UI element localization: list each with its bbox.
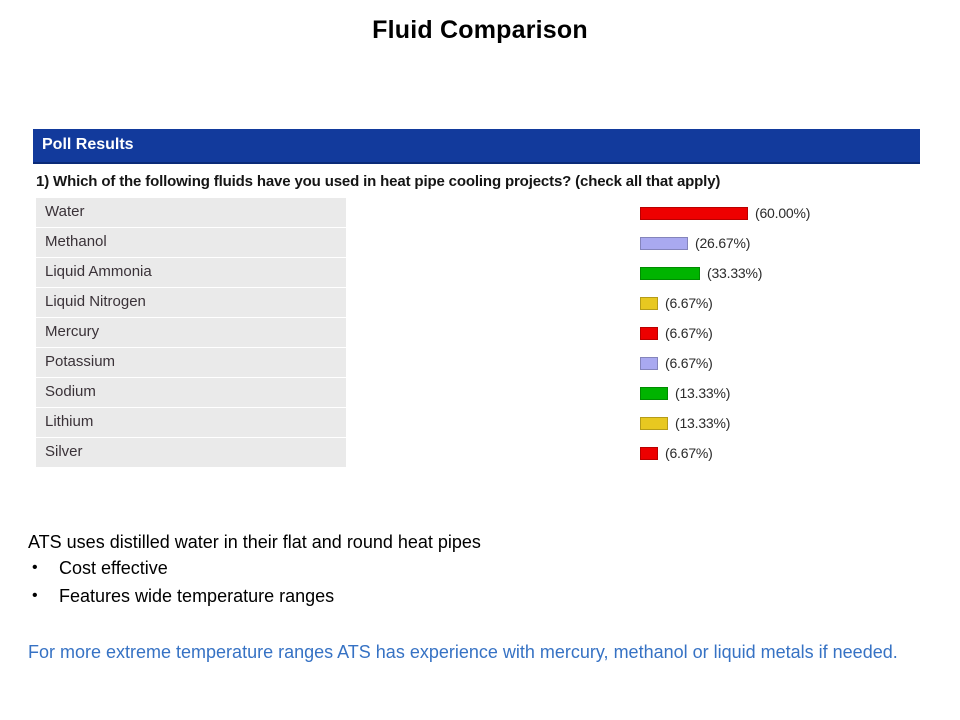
poll-row: Mercury(6.67%) (33, 318, 920, 348)
poll-row-bar (640, 387, 668, 400)
poll-row: Liquid Ammonia(33.33%) (33, 258, 920, 288)
poll-row: Potassium(6.67%) (33, 348, 920, 378)
poll-row-percent: (26.67%) (695, 235, 750, 251)
poll-row: Liquid Nitrogen(6.67%) (33, 288, 920, 318)
poll-row-bar-group: (26.67%) (640, 236, 750, 250)
poll-row-bar (640, 237, 688, 250)
poll-results-header: Poll Results (33, 129, 920, 164)
poll-row-bar-group: (6.67%) (640, 326, 713, 340)
poll-row-label-cell: Potassium (36, 348, 346, 378)
poll-row-percent: (13.33%) (675, 385, 730, 401)
poll-results-rows: Water(60.00%)Methanol(26.67%)Liquid Ammo… (33, 198, 920, 468)
poll-row-label: Methanol (45, 233, 107, 250)
poll-row-bar (640, 417, 668, 430)
poll-row: Water(60.00%) (33, 198, 920, 228)
poll-question-text: 1) Which of the following fluids have yo… (33, 164, 920, 198)
poll-row-percent: (33.33%) (707, 265, 762, 281)
poll-row: Methanol(26.67%) (33, 228, 920, 258)
poll-row-label-cell: Lithium (36, 408, 346, 438)
poll-row-percent: (6.67%) (665, 325, 713, 341)
page-title: Fluid Comparison (0, 16, 960, 45)
bullet-text: Cost effective (59, 558, 168, 578)
bullet-text: Features wide temperature ranges (59, 586, 334, 606)
poll-row: Sodium(13.33%) (33, 378, 920, 408)
poll-row-label-cell: Liquid Ammonia (36, 258, 346, 288)
poll-row-label-cell: Mercury (36, 318, 346, 348)
poll-row: Lithium(13.33%) (33, 408, 920, 438)
body-copy: ATS uses distilled water in their flat a… (28, 530, 928, 610)
bullet-item: •Cost effective (28, 554, 928, 582)
poll-row: Silver(6.67%) (33, 438, 920, 468)
poll-row-label: Silver (45, 443, 83, 460)
bullet-dot-icon: • (32, 554, 38, 582)
poll-row-bar (640, 267, 700, 280)
poll-row-bar (640, 207, 748, 220)
poll-row-label: Mercury (45, 323, 99, 340)
closing-note: For more extreme temperature ranges ATS … (28, 639, 934, 665)
poll-row-bar-group: (6.67%) (640, 356, 713, 370)
poll-row-bar (640, 447, 658, 460)
poll-row-bar (640, 357, 658, 370)
poll-row-bar (640, 297, 658, 310)
poll-results-panel: Poll Results 1) Which of the following f… (33, 129, 920, 468)
poll-row-label: Potassium (45, 353, 115, 370)
poll-row-bar (640, 327, 658, 340)
poll-row-percent: (6.67%) (665, 445, 713, 461)
poll-row-bar-group: (33.33%) (640, 266, 762, 280)
bullet-dot-icon: • (32, 582, 38, 610)
poll-row-label: Water (45, 203, 84, 220)
poll-row-label: Sodium (45, 383, 96, 400)
bullet-list: •Cost effective•Features wide temperatur… (28, 554, 928, 610)
lead-statement: ATS uses distilled water in their flat a… (28, 530, 928, 554)
poll-row-percent: (6.67%) (665, 295, 713, 311)
poll-row-bar-group: (13.33%) (640, 386, 730, 400)
poll-row-percent: (13.33%) (675, 415, 730, 431)
poll-row-label-cell: Silver (36, 438, 346, 468)
poll-row-bar-group: (6.67%) (640, 446, 713, 460)
poll-row-bar-group: (6.67%) (640, 296, 713, 310)
poll-row-label: Lithium (45, 413, 93, 430)
poll-row-bar-group: (13.33%) (640, 416, 730, 430)
poll-row-percent: (6.67%) (665, 355, 713, 371)
bullet-item: •Features wide temperature ranges (28, 582, 928, 610)
poll-row-label-cell: Water (36, 198, 346, 228)
poll-row-bar-group: (60.00%) (640, 206, 810, 220)
poll-row-label: Liquid Nitrogen (45, 293, 146, 310)
poll-row-label-cell: Methanol (36, 228, 346, 258)
poll-row-label-cell: Sodium (36, 378, 346, 408)
poll-row-label: Liquid Ammonia (45, 263, 152, 280)
poll-row-percent: (60.00%) (755, 205, 810, 221)
poll-row-label-cell: Liquid Nitrogen (36, 288, 346, 318)
